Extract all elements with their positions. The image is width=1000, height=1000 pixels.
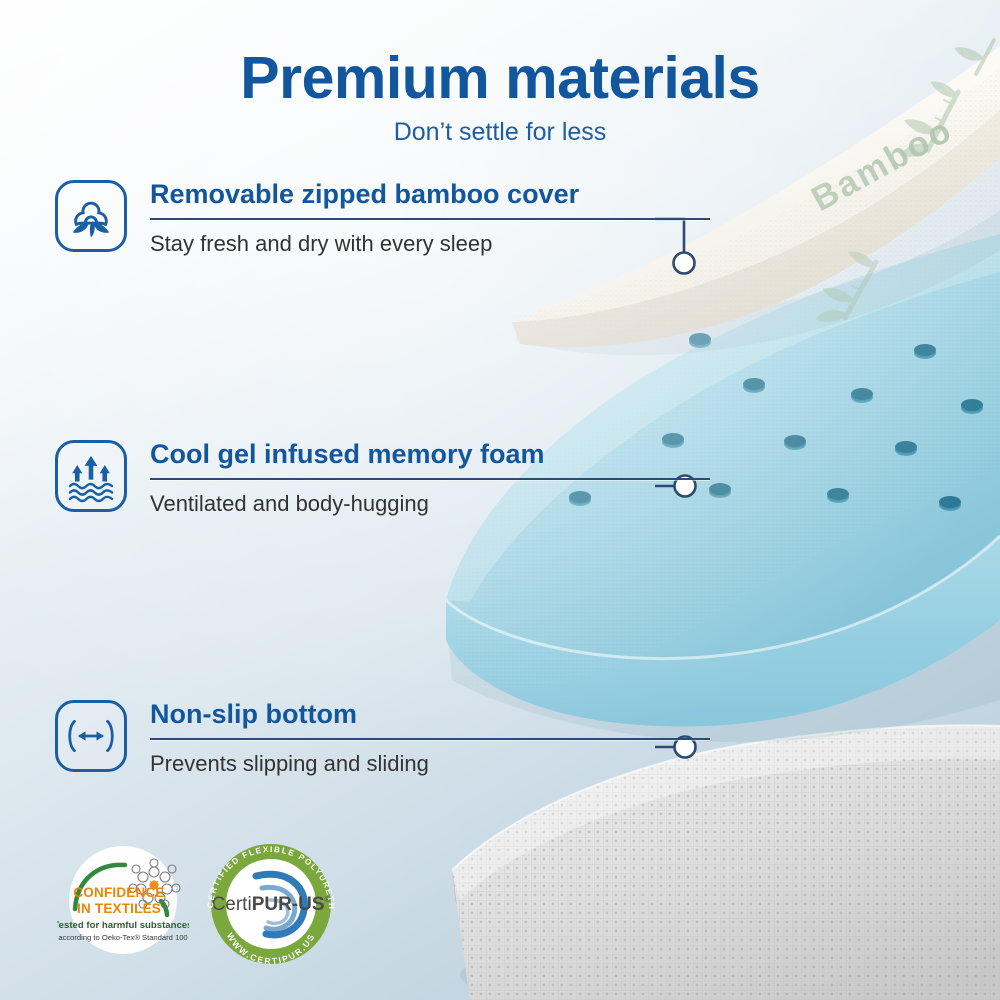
oeko-tex-confidence-in-textiles-badge: CONFIDENCE IN TEXTILES Tested for harmfu…	[57, 845, 189, 955]
oeko-line-2: IN TEXTILES	[77, 901, 161, 916]
feature-subtext: Ventilated and body-hugging	[150, 491, 710, 517]
feature-text-block: Cool gel infused memory foam Ventilated …	[150, 440, 710, 517]
feature-heading: Non-slip bottom	[150, 700, 710, 730]
feature-text-block: Removable zipped bamboo cover Stay fresh…	[150, 180, 710, 257]
oeko-line-4: according to Oeko-Tex® Standard 100	[58, 933, 187, 942]
page-title: Premium materials	[0, 44, 1000, 112]
certipur-us-badge: CertiPUR-US® CONTAINS CERTIFIED FLEXIBLE…	[196, 842, 346, 966]
oeko-line-3: Tested for harmful substances	[57, 920, 189, 931]
feature-text-block: Non-slip bottom Prevents slipping and sl…	[150, 700, 710, 777]
certipur-center-2: PUR-US	[252, 894, 325, 915]
infographic-canvas: Bamboo Premium materials Don’t settle fo…	[0, 0, 1000, 1000]
airflow-waves-icon	[55, 440, 127, 512]
certipur-center-1: Certi	[212, 894, 252, 915]
feature-heading: Removable zipped bamboo cover	[150, 180, 710, 210]
svg-text:CertiPUR-US®: CertiPUR-US®	[212, 894, 331, 915]
page-subtitle: Don’t settle for less	[0, 118, 1000, 147]
cotton-boll-icon	[55, 180, 127, 252]
feature-divider	[150, 478, 710, 480]
feature-divider	[150, 218, 710, 220]
feature-divider	[150, 738, 710, 740]
horizontal-arrow-icon	[55, 700, 127, 772]
feature-subtext: Prevents slipping and sliding	[150, 751, 710, 777]
oeko-line-1: CONFIDENCE	[73, 885, 164, 900]
feature-subtext: Stay fresh and dry with every sleep	[150, 231, 710, 257]
feature-heading: Cool gel infused memory foam	[150, 440, 710, 470]
